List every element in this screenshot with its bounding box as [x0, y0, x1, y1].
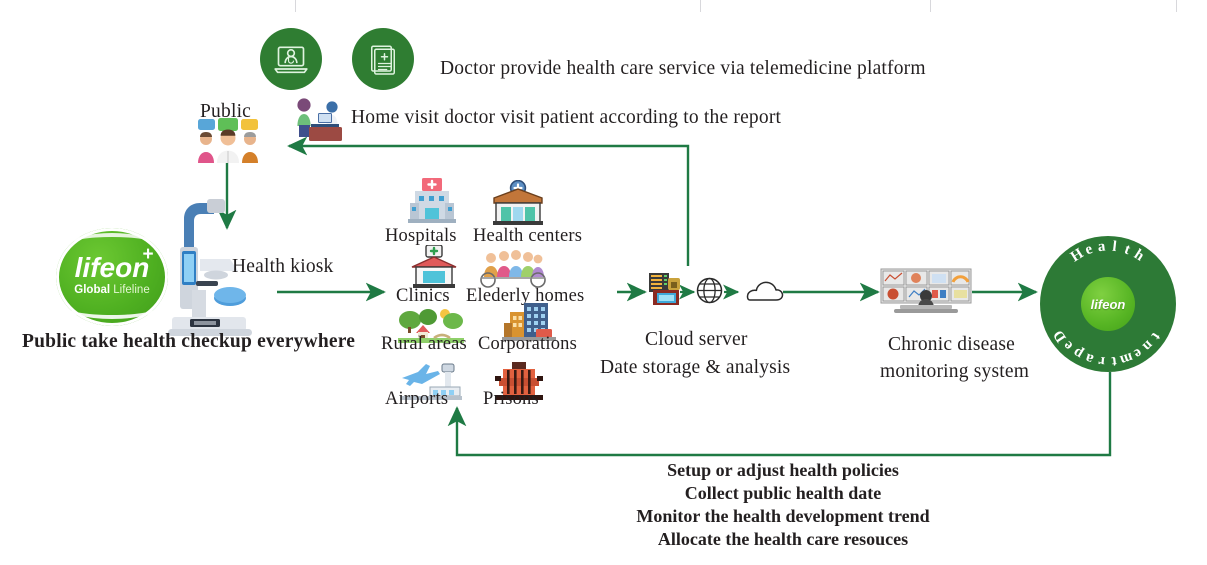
kiosk-caption: Public take health checkup everywhere — [22, 331, 355, 353]
seal-arc-char: a — [1097, 238, 1106, 256]
cloud-server-line1: Cloud server — [645, 329, 748, 351]
venue-label-health-centers: Health centers — [473, 226, 582, 247]
seal-inner-logo: lifeon — [1081, 277, 1135, 331]
venue-label-prisons: Prisons — [483, 389, 539, 410]
seal-arc-char: t — [1111, 352, 1118, 369]
monitor-wall-icon — [880, 268, 972, 314]
cloud-icon — [740, 279, 785, 303]
medical-record-icon — [352, 28, 414, 90]
telemedicine-annotation: Doctor provide health care service via t… — [440, 58, 926, 80]
feedback-item: Monitor the health development trend — [503, 505, 1063, 528]
venue-label-airports: Airports — [385, 389, 448, 410]
health-department-seal: Health Department lifeon — [1040, 236, 1176, 372]
feedback-item: Setup or adjust health policies — [503, 459, 1063, 482]
feedback-policy-list: Setup or adjust health policies Collect … — [503, 459, 1063, 551]
cloud-server-line2: Date storage & analysis — [600, 357, 790, 379]
health-kiosk-label: Health kiosk — [232, 256, 334, 278]
group-of-people-icon — [196, 118, 260, 164]
lifeon-logo-swoosh-top — [70, 233, 154, 255]
diagram-canvas: Doctor provide health care service via t… — [0, 0, 1207, 565]
feedback-item: Collect public health date — [503, 482, 1063, 505]
seal-arc-char: t — [1122, 241, 1132, 259]
lifeon-logo-swoosh — [64, 293, 160, 319]
seal-arc-char: a — [1083, 349, 1096, 368]
seal-arc-char: r — [1098, 352, 1106, 370]
telemedicine-laptop-icon — [260, 28, 322, 90]
elderly-group-icon — [478, 249, 548, 289]
health-center-icon — [490, 180, 546, 226]
seal-arc-char: h — [1131, 247, 1147, 266]
venue-label-hospitals: Hospitals — [385, 226, 457, 247]
venue-label-corporations: Corporations — [478, 334, 577, 355]
hospital-building-icon — [406, 178, 458, 226]
clinic-building-icon — [410, 245, 458, 289]
server-rack-icon — [648, 272, 682, 306]
doctor-home-visit-icon — [287, 96, 349, 144]
venue-label-rural-areas: Rural areas — [381, 334, 467, 355]
monitoring-line1: Chronic disease — [888, 334, 1015, 356]
seal-arc-char: l — [1111, 239, 1117, 256]
feedback-item: Allocate the health care resouces — [503, 528, 1063, 551]
globe-network-icon — [696, 277, 723, 304]
seal-inner-logo-text: lifeon — [1091, 297, 1126, 312]
monitoring-line2: monitoring system — [880, 361, 1029, 383]
home-visit-annotation: Home visit doctor visit patient accordin… — [351, 107, 781, 129]
venue-label-clinics: Clinics — [396, 286, 450, 307]
